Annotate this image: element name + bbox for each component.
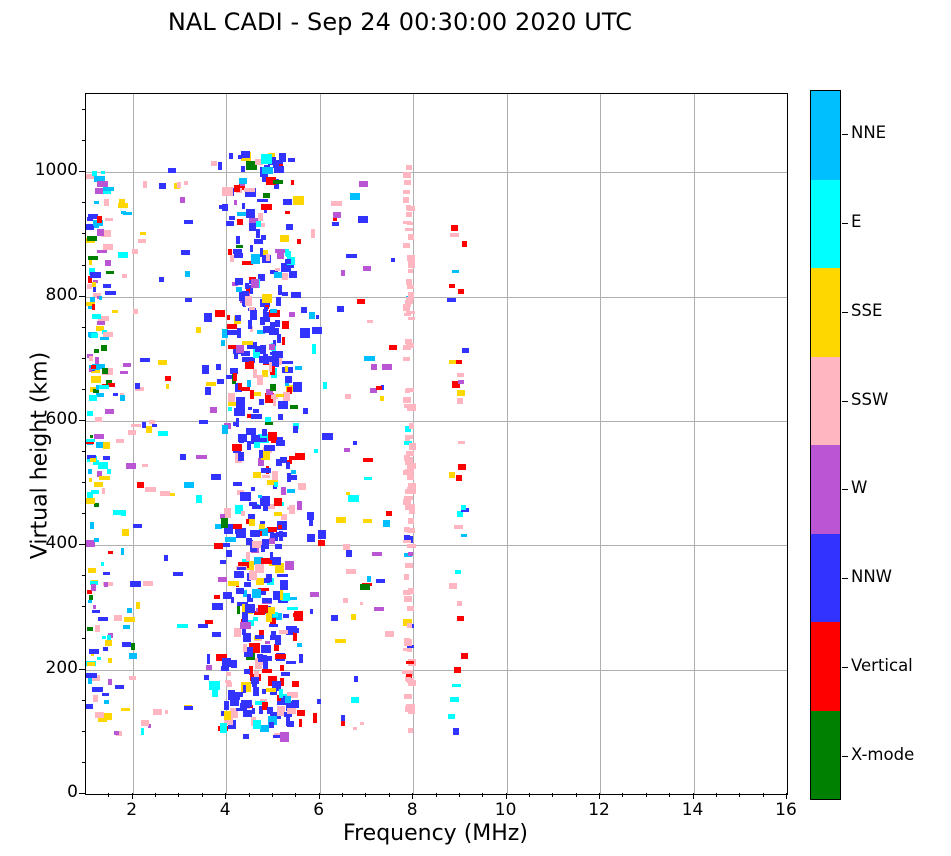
data-point bbox=[266, 613, 272, 622]
data-point bbox=[391, 258, 396, 262]
data-point bbox=[277, 574, 288, 577]
data-point bbox=[404, 180, 411, 185]
data-point bbox=[196, 495, 202, 503]
x-axis-minor-tick bbox=[622, 793, 623, 797]
x-axis-minor-tick bbox=[108, 793, 109, 797]
data-point bbox=[236, 588, 243, 594]
data-point bbox=[173, 572, 184, 576]
data-point bbox=[403, 172, 412, 178]
data-point bbox=[317, 699, 321, 704]
data-point bbox=[280, 665, 285, 671]
data-point bbox=[343, 544, 350, 550]
data-point bbox=[408, 317, 415, 320]
gridline-horizontal bbox=[86, 421, 787, 422]
data-point bbox=[242, 612, 247, 622]
y-axis-minor-tick bbox=[82, 513, 86, 514]
data-point bbox=[206, 665, 212, 670]
data-point bbox=[89, 395, 97, 401]
data-point bbox=[92, 687, 103, 692]
gridline-vertical bbox=[507, 94, 508, 794]
data-point bbox=[447, 298, 455, 302]
data-point bbox=[353, 727, 357, 730]
data-point bbox=[92, 314, 101, 319]
data-point bbox=[246, 538, 252, 544]
data-point bbox=[290, 597, 297, 600]
data-point bbox=[250, 390, 254, 400]
data-point bbox=[277, 334, 281, 343]
data-point bbox=[87, 662, 95, 666]
data-point bbox=[407, 255, 415, 261]
data-point bbox=[130, 581, 141, 587]
data-point bbox=[88, 469, 92, 474]
data-point bbox=[291, 292, 300, 299]
data-point bbox=[297, 239, 302, 244]
data-point bbox=[358, 216, 367, 223]
data-point bbox=[407, 206, 415, 210]
gridline-vertical bbox=[600, 94, 601, 794]
data-point bbox=[260, 499, 271, 504]
data-point bbox=[221, 711, 224, 716]
data-point bbox=[237, 606, 241, 614]
data-point bbox=[103, 187, 114, 191]
x-axis-minor-tick bbox=[459, 793, 460, 797]
colorbar-segment-w bbox=[811, 445, 840, 534]
data-point bbox=[252, 505, 261, 509]
data-point bbox=[231, 660, 237, 668]
data-point bbox=[141, 720, 149, 726]
data-point bbox=[406, 165, 411, 170]
data-point bbox=[360, 584, 370, 590]
y-axis-minor-tick bbox=[82, 358, 86, 359]
data-point bbox=[123, 363, 131, 367]
data-point bbox=[101, 562, 104, 566]
x-axis-minor-tick bbox=[272, 793, 273, 797]
data-point bbox=[152, 424, 157, 428]
data-point bbox=[408, 343, 414, 347]
data-point bbox=[448, 714, 455, 719]
data-point bbox=[351, 697, 359, 702]
data-point bbox=[263, 505, 268, 512]
data-point bbox=[279, 153, 286, 162]
x-axis-tick-label: 12 bbox=[569, 800, 629, 820]
data-point bbox=[95, 625, 100, 632]
data-point bbox=[118, 252, 128, 258]
data-point bbox=[270, 384, 276, 391]
data-point bbox=[363, 519, 372, 523]
y-axis-minor-tick bbox=[82, 482, 86, 483]
data-point bbox=[159, 277, 165, 282]
data-point bbox=[122, 642, 131, 647]
colorbar-label-nne: NNE bbox=[851, 123, 886, 142]
colorbar-tick bbox=[842, 312, 848, 313]
data-point bbox=[145, 487, 156, 491]
data-point bbox=[90, 458, 96, 462]
data-point bbox=[294, 611, 303, 621]
data-point bbox=[353, 441, 357, 446]
data-point bbox=[113, 510, 122, 515]
data-point bbox=[220, 560, 225, 564]
data-point bbox=[86, 704, 93, 710]
data-point bbox=[261, 468, 272, 474]
data-point bbox=[267, 656, 272, 661]
y-axis-tick bbox=[79, 171, 85, 172]
data-point bbox=[180, 197, 185, 203]
data-point bbox=[116, 439, 124, 443]
data-point bbox=[331, 201, 341, 206]
colorbar-label-w: W bbox=[851, 478, 867, 497]
data-point bbox=[243, 734, 249, 739]
data-point bbox=[237, 328, 240, 337]
data-point bbox=[456, 360, 462, 364]
data-point bbox=[231, 597, 235, 602]
data-point bbox=[107, 469, 111, 474]
data-point bbox=[287, 489, 296, 493]
data-point bbox=[121, 548, 124, 555]
data-point bbox=[314, 449, 317, 453]
data-point bbox=[253, 687, 259, 697]
data-point bbox=[114, 615, 122, 621]
data-point bbox=[95, 417, 102, 422]
data-point bbox=[458, 464, 466, 470]
data-point bbox=[264, 307, 268, 310]
data-point bbox=[383, 520, 389, 527]
data-point bbox=[280, 580, 287, 589]
data-point bbox=[218, 162, 223, 170]
data-point bbox=[385, 631, 395, 638]
data-point bbox=[103, 647, 109, 651]
data-point bbox=[228, 581, 238, 586]
data-point bbox=[243, 685, 246, 693]
data-point bbox=[262, 167, 273, 173]
data-point bbox=[259, 399, 264, 405]
colorbar-segment-nne bbox=[811, 91, 840, 180]
data-point bbox=[293, 426, 298, 434]
data-point bbox=[285, 211, 290, 214]
x-axis-tick-label: 2 bbox=[102, 800, 162, 820]
data-point bbox=[240, 402, 245, 408]
data-point bbox=[299, 719, 302, 728]
data-point bbox=[227, 330, 238, 335]
data-point bbox=[297, 643, 302, 647]
data-point bbox=[266, 254, 270, 260]
data-point bbox=[224, 508, 230, 518]
data-point bbox=[253, 617, 258, 621]
y-axis-label: Virtual height (km) bbox=[28, 246, 53, 666]
data-point bbox=[229, 153, 233, 159]
data-point bbox=[348, 495, 359, 502]
data-point bbox=[407, 457, 414, 461]
data-point bbox=[461, 505, 466, 510]
data-point bbox=[129, 676, 136, 680]
data-point bbox=[234, 185, 240, 192]
data-point bbox=[91, 584, 96, 590]
data-point bbox=[278, 285, 283, 295]
data-point bbox=[101, 171, 105, 174]
data-point bbox=[455, 570, 461, 574]
data-point bbox=[286, 717, 289, 726]
data-point bbox=[108, 658, 112, 663]
data-point bbox=[291, 470, 296, 473]
data-point bbox=[452, 270, 459, 274]
data-point bbox=[102, 636, 106, 640]
data-point bbox=[114, 731, 119, 736]
data-point bbox=[279, 689, 283, 698]
data-point bbox=[222, 187, 233, 195]
data-point bbox=[461, 653, 468, 660]
data-point bbox=[103, 284, 111, 288]
data-point bbox=[104, 582, 108, 587]
colorbar-tick bbox=[842, 667, 848, 668]
data-point bbox=[258, 213, 263, 221]
data-point bbox=[261, 645, 272, 653]
data-point bbox=[269, 344, 274, 350]
data-point bbox=[113, 393, 117, 396]
data-point bbox=[97, 321, 104, 325]
data-point bbox=[404, 527, 409, 532]
data-point bbox=[138, 239, 146, 244]
data-point bbox=[341, 270, 345, 275]
data-point bbox=[409, 510, 415, 514]
data-point bbox=[270, 552, 273, 560]
data-point bbox=[408, 261, 415, 267]
data-point bbox=[403, 197, 409, 204]
data-point bbox=[274, 482, 278, 487]
data-point bbox=[221, 518, 229, 528]
data-point bbox=[252, 589, 261, 597]
data-point bbox=[133, 309, 138, 314]
data-point bbox=[233, 373, 237, 380]
data-point bbox=[250, 310, 258, 320]
data-point bbox=[404, 313, 411, 316]
data-point bbox=[168, 168, 176, 173]
data-point bbox=[403, 221, 411, 224]
data-point bbox=[221, 340, 225, 346]
data-point bbox=[298, 483, 307, 490]
data-point bbox=[343, 598, 348, 603]
data-point bbox=[307, 534, 315, 542]
data-point bbox=[287, 475, 297, 479]
data-point bbox=[108, 679, 112, 685]
data-point bbox=[216, 364, 221, 370]
data-point bbox=[160, 491, 170, 496]
y-axis-minor-tick bbox=[82, 389, 86, 390]
data-point bbox=[266, 688, 276, 692]
data-point bbox=[274, 512, 282, 516]
data-point bbox=[245, 361, 254, 369]
data-point bbox=[224, 701, 228, 710]
data-point bbox=[247, 594, 251, 598]
y-axis-minor-tick bbox=[82, 762, 86, 763]
y-axis-tick bbox=[79, 544, 85, 545]
data-point bbox=[310, 609, 314, 613]
data-point bbox=[275, 654, 286, 659]
data-point bbox=[180, 454, 186, 460]
data-point bbox=[341, 715, 345, 722]
data-point bbox=[312, 327, 322, 334]
data-point bbox=[153, 709, 162, 715]
data-point bbox=[249, 571, 257, 580]
data-point bbox=[281, 487, 287, 495]
data-point bbox=[287, 708, 296, 715]
data-point bbox=[86, 439, 95, 442]
scatter-plot-canvas bbox=[86, 94, 787, 794]
data-point bbox=[309, 312, 315, 319]
data-point bbox=[282, 337, 286, 345]
data-point bbox=[454, 525, 463, 529]
data-point bbox=[407, 623, 413, 628]
data-point bbox=[246, 428, 256, 436]
data-point bbox=[241, 166, 245, 172]
data-point bbox=[337, 306, 344, 312]
data-point bbox=[267, 707, 273, 714]
data-point bbox=[403, 648, 411, 651]
data-point bbox=[286, 224, 293, 229]
data-point bbox=[293, 382, 302, 392]
data-point bbox=[88, 600, 91, 603]
data-point bbox=[372, 552, 382, 557]
data-point bbox=[303, 408, 308, 414]
data-point bbox=[312, 344, 317, 354]
y-axis-minor-tick bbox=[82, 700, 86, 701]
data-point bbox=[345, 394, 352, 398]
data-point bbox=[124, 617, 135, 622]
data-point bbox=[250, 530, 260, 537]
data-point bbox=[108, 383, 115, 387]
data-point bbox=[199, 420, 208, 424]
data-point bbox=[164, 555, 169, 561]
data-point bbox=[92, 171, 98, 176]
data-point bbox=[96, 393, 104, 397]
data-point bbox=[286, 661, 296, 665]
data-point bbox=[177, 182, 181, 188]
data-point bbox=[88, 678, 92, 683]
y-axis-tick-label: 1000 bbox=[8, 160, 78, 180]
data-point bbox=[300, 328, 310, 338]
data-point bbox=[376, 386, 381, 390]
data-point bbox=[280, 732, 288, 742]
data-point bbox=[289, 505, 296, 514]
data-point bbox=[293, 632, 296, 641]
y-axis-minor-tick bbox=[82, 109, 86, 110]
data-point bbox=[256, 229, 260, 238]
data-point bbox=[212, 603, 223, 610]
gridline-vertical bbox=[694, 94, 695, 794]
data-point bbox=[227, 324, 237, 329]
data-point bbox=[217, 379, 224, 384]
colorbar-segment-sse bbox=[811, 268, 840, 357]
gridline-horizontal bbox=[86, 545, 787, 546]
x-axis-minor-tick bbox=[155, 793, 156, 797]
data-point bbox=[198, 624, 208, 627]
data-point bbox=[244, 188, 254, 193]
data-point bbox=[236, 287, 243, 292]
data-point bbox=[276, 532, 287, 537]
data-point bbox=[222, 204, 228, 210]
data-point bbox=[97, 657, 101, 660]
data-point bbox=[274, 166, 285, 173]
data-point bbox=[94, 201, 99, 205]
data-point bbox=[242, 341, 252, 345]
data-point bbox=[120, 371, 128, 375]
data-point bbox=[313, 713, 317, 723]
data-point bbox=[121, 510, 125, 516]
data-point bbox=[248, 320, 252, 329]
data-point bbox=[122, 529, 129, 536]
data-point bbox=[220, 723, 227, 733]
data-point bbox=[230, 255, 233, 262]
data-point bbox=[282, 361, 293, 364]
x-axis-minor-tick bbox=[249, 793, 250, 797]
plot-axes-frame bbox=[85, 93, 788, 795]
data-point bbox=[104, 199, 109, 205]
data-point bbox=[257, 199, 267, 202]
data-point bbox=[206, 382, 216, 386]
data-point bbox=[184, 482, 194, 489]
data-point bbox=[228, 345, 236, 349]
data-point bbox=[127, 608, 131, 613]
data-point bbox=[449, 583, 457, 590]
data-point bbox=[177, 624, 188, 627]
data-point bbox=[407, 606, 414, 610]
data-point bbox=[297, 501, 302, 510]
data-point bbox=[102, 693, 109, 696]
data-point bbox=[93, 695, 98, 702]
data-point bbox=[255, 635, 264, 639]
data-point bbox=[389, 345, 397, 350]
data-point bbox=[406, 388, 414, 392]
x-axis-tick-label: 8 bbox=[382, 800, 442, 820]
data-point bbox=[228, 249, 232, 254]
data-point bbox=[450, 697, 459, 701]
data-point bbox=[322, 433, 333, 440]
data-point bbox=[97, 229, 103, 236]
data-point bbox=[281, 672, 290, 677]
data-point bbox=[449, 472, 455, 478]
y-axis-minor-tick bbox=[82, 202, 86, 203]
data-point bbox=[236, 345, 244, 354]
data-point bbox=[367, 320, 373, 323]
x-axis-minor-tick bbox=[389, 793, 390, 797]
data-point bbox=[235, 278, 243, 285]
data-point bbox=[104, 700, 109, 704]
data-point bbox=[277, 437, 283, 443]
data-point bbox=[228, 407, 232, 411]
data-point bbox=[196, 455, 207, 459]
data-point bbox=[234, 408, 244, 416]
data-point bbox=[405, 563, 413, 568]
data-point bbox=[102, 488, 105, 494]
data-point bbox=[94, 503, 99, 506]
data-point bbox=[461, 534, 467, 537]
data-point bbox=[235, 315, 241, 321]
data-point bbox=[275, 544, 282, 549]
data-point bbox=[185, 271, 190, 277]
data-point bbox=[87, 411, 93, 416]
data-point bbox=[457, 616, 465, 621]
data-point bbox=[276, 297, 281, 306]
data-point bbox=[405, 228, 413, 231]
data-point bbox=[196, 327, 201, 333]
data-point bbox=[451, 225, 458, 231]
data-point bbox=[131, 643, 135, 650]
data-point bbox=[205, 387, 211, 395]
x-axis-minor-tick bbox=[669, 793, 670, 797]
data-point bbox=[126, 463, 136, 469]
x-axis-minor-tick bbox=[716, 793, 717, 797]
data-point bbox=[273, 180, 283, 183]
data-point bbox=[246, 552, 251, 561]
data-point bbox=[251, 414, 262, 419]
